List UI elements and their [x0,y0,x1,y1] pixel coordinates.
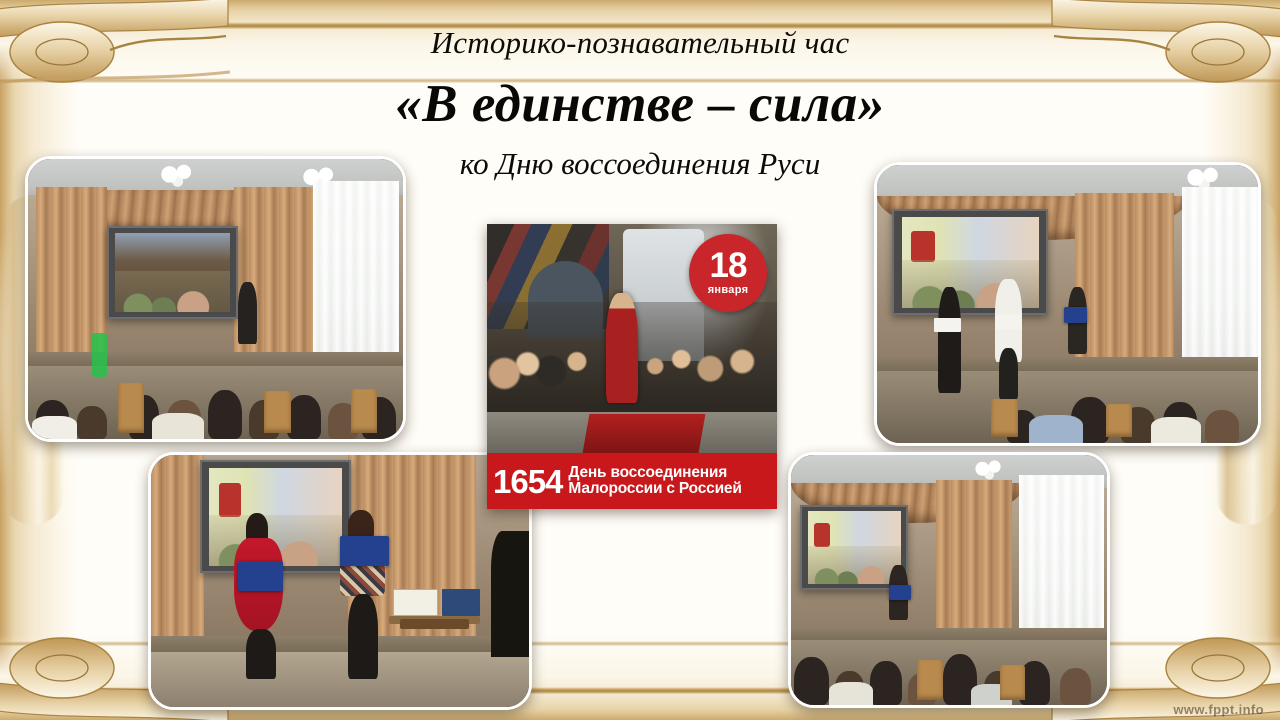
gold-rule-top-secondary-icon [0,78,1280,83]
audience-head [208,390,242,439]
display-book-left [393,589,438,617]
photo-bottom-right-scene [791,455,1107,705]
poster-red-banner: 1654 День воссоединения Малороссии с Рос… [487,453,777,509]
audience-heads [28,310,403,439]
audience-shirt [32,416,77,439]
projected-crowd [115,271,230,312]
artwork-central-figure [606,293,638,403]
chair [991,399,1018,438]
banner-line-1: День воссоединения [568,465,741,481]
photo-top-left-scene [28,159,403,439]
projection-screen [892,209,1048,315]
projected-date-badge [219,483,242,516]
projected-crowd [808,546,901,584]
hall-floor [151,652,529,707]
audience-shirt [1029,415,1082,443]
audience-head [794,657,829,705]
audience-head [287,395,321,439]
stage-curtain-left [151,455,204,636]
projected-slide-image [115,233,230,313]
blue-folder [238,561,283,591]
side-figure [491,531,529,657]
presenter-woman-red-legs [246,629,276,679]
audience-head [77,406,107,439]
chair [1106,404,1133,437]
banner-year: 1654 [493,465,562,498]
chair [264,391,290,433]
photo-bottom-right[interactable] [788,452,1110,708]
audience-heads [791,590,1107,705]
date-badge: 18 января [689,234,767,312]
projection-screen [107,226,238,318]
chair [118,383,144,433]
audience-shirt [829,682,873,705]
date-badge-month: января [708,284,749,296]
date-badge-number: 18 [710,250,747,282]
artwork-red-carpet [582,414,705,453]
banner-text: День воссоединения Малороссии с Россией [568,465,741,497]
chair [351,389,377,434]
audience-shirt [1151,417,1201,443]
photo-top-right[interactable] [874,162,1261,446]
gold-rule-top-icon [0,22,1280,29]
photo-bottom-left[interactable] [148,452,532,710]
projected-date-badge [911,231,934,262]
audience-heads [877,315,1258,443]
audience-head [870,661,902,705]
audience-shirt [152,413,205,439]
projected-date-badge [814,523,830,548]
photo-bottom-left-scene [151,455,529,707]
stacked-books [400,619,468,629]
presenter-woman-plaid-legs [348,594,378,680]
audience-head [1060,668,1092,705]
slide-canvas: Историко-познавательный час «В единстве … [0,0,1280,720]
watermark: www.fppt.info [1173,702,1264,717]
chair [1000,665,1025,700]
blue-folder [340,536,389,566]
display-book-right [442,589,480,617]
photo-top-left[interactable] [25,156,406,442]
projected-slide-image [808,511,901,584]
photo-top-right-scene [877,165,1258,443]
banner-line-2: Малороссии с Россией [568,481,741,497]
chandelier-icon [156,162,201,193]
chair [917,660,942,700]
center-poster[interactable]: 18 января 1654 День воссоединения Малоро… [487,224,777,509]
audience-head [1205,410,1239,443]
